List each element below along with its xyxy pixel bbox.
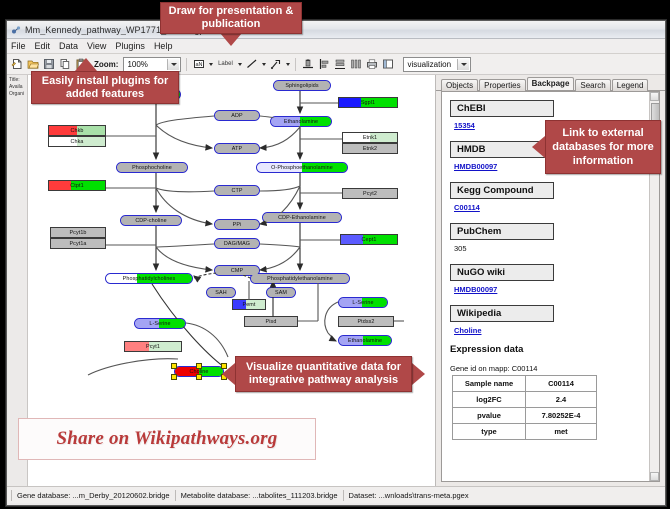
callout-install-plugins: Easily install plugins for added feature… bbox=[31, 71, 179, 104]
metabolite-label: SAM bbox=[275, 290, 287, 296]
db-header-pubchem: PubChem bbox=[450, 223, 554, 240]
metabolite-node-l-serine[interactable]: L-Serine bbox=[134, 318, 186, 329]
cell-key: pvalue bbox=[453, 408, 526, 424]
align-left-icon[interactable] bbox=[317, 58, 330, 71]
zoom-combo[interactable]: 100% bbox=[123, 57, 181, 72]
gene-label: Pcyt1b bbox=[69, 230, 86, 236]
menu-help[interactable]: Help bbox=[154, 41, 173, 51]
metabolite-label: DAG/MAG bbox=[224, 241, 250, 247]
screenshot-root: Mm_Kennedy_pathway_WP1771_45176.gpml Fil… bbox=[0, 0, 670, 509]
selection-handle[interactable] bbox=[196, 363, 202, 369]
gene-label: Sgpl1 bbox=[361, 100, 375, 106]
db-header-wikipedia: Wikipedia bbox=[450, 305, 554, 322]
gene-label: Ptdss2 bbox=[357, 319, 374, 325]
gene-label: Etnk1 bbox=[363, 135, 377, 141]
metabolite-node-adp[interactable]: ADP bbox=[214, 110, 260, 121]
gene-node-pcyt1[interactable]: Pcyt1 bbox=[124, 341, 182, 352]
datanode-dropdown-icon[interactable] bbox=[209, 63, 213, 66]
metabolite-node-sphingolipids[interactable]: Sphingolipids bbox=[273, 80, 331, 91]
distribute-icon[interactable] bbox=[349, 58, 362, 71]
callout-databases-arrow-icon bbox=[532, 136, 545, 158]
menu-data[interactable]: Data bbox=[59, 41, 78, 51]
gene-node-chkb[interactable]: Chkb bbox=[48, 125, 106, 136]
zoom-label: Zoom: bbox=[94, 60, 118, 69]
tab-search[interactable]: Search bbox=[575, 79, 610, 91]
metabolite-node-sam[interactable]: SAM bbox=[266, 287, 296, 298]
metabolite-node-ctp[interactable]: CTP bbox=[214, 185, 260, 196]
cell-value: 7.80252E-4 bbox=[526, 408, 597, 424]
expression-table: Sample name C00114 log2FC 2.4 pvalue 7.8… bbox=[452, 375, 597, 440]
label-dropdown-icon[interactable] bbox=[238, 63, 242, 66]
metabolite-node-ethanolamine[interactable]: Ethanolamine bbox=[338, 335, 392, 346]
callout-share-wikipathways: Share on Wikipathways.org bbox=[18, 418, 316, 460]
gene-id-line: Gene id on mapp: C00114 bbox=[450, 364, 651, 373]
menubar: File Edit Data View Plugins Help bbox=[7, 39, 665, 54]
db-header-chebi: ChEBI bbox=[450, 100, 554, 117]
metabolite-label: Phosphatidylethanolamine bbox=[267, 276, 333, 282]
gene-label: Cept1 bbox=[362, 237, 377, 243]
metabolite-node-dag-mag[interactable]: DAG/MAG bbox=[214, 238, 260, 249]
status-dataset: Dataset: ...wnloads\trans-meta.pgex bbox=[343, 490, 474, 501]
gene-node-chka[interactable]: Chka bbox=[48, 136, 106, 147]
table-row: type met bbox=[453, 424, 597, 440]
selection-handle[interactable] bbox=[171, 363, 177, 369]
metabolite-node-sah[interactable]: SAH bbox=[206, 287, 236, 298]
callout-external-databases: Link to external databases for more info… bbox=[545, 120, 661, 174]
visualization-value: visualization bbox=[407, 60, 451, 69]
metabolite-node-atp[interactable]: ATP bbox=[214, 143, 260, 154]
callout-visualize-quantitative: Visualize quantitative data for integrat… bbox=[235, 356, 412, 392]
db-link-wikipedia[interactable]: Choline bbox=[454, 326, 651, 335]
toolbar-separator bbox=[186, 58, 187, 71]
menu-plugins[interactable]: Plugins bbox=[115, 41, 145, 51]
table-row: Sample name C00114 bbox=[453, 376, 597, 392]
gene-node-pisd[interactable]: Pisd bbox=[244, 316, 298, 327]
tab-legend[interactable]: Legend bbox=[612, 79, 649, 91]
gene-label: Etnk2 bbox=[363, 146, 377, 152]
metabolite-label: Phosphatidylcholines bbox=[123, 276, 176, 282]
pathvisio-app-icon bbox=[11, 25, 21, 35]
metabolite-node-o-phosphoethanolamine[interactable]: O-Phosphoethanolamine bbox=[256, 162, 348, 173]
cell-key: type bbox=[453, 424, 526, 440]
db-link-kegg[interactable]: C00114 bbox=[454, 203, 651, 212]
db-header-nugowiki: NuGO wiki bbox=[450, 264, 554, 281]
gene-node-ptdss2[interactable]: Ptdss2 bbox=[338, 316, 394, 327]
cell-key: Sample name bbox=[453, 376, 526, 392]
db-value-pubchem: 305 bbox=[454, 244, 651, 253]
share-text: Share on Wikipathways.org bbox=[57, 428, 278, 450]
metabolite-label: Ethanolamine bbox=[348, 338, 382, 344]
table-row: log2FC 2.4 bbox=[453, 392, 597, 408]
node-fill-left bbox=[125, 342, 149, 351]
node-fill-left bbox=[49, 181, 71, 190]
copy-icon[interactable] bbox=[58, 58, 71, 71]
gene-label: Pemt bbox=[243, 302, 256, 308]
metabolite-node-l-serine[interactable]: L-Serine bbox=[338, 297, 388, 308]
metabolite-node-cmp[interactable]: CMP bbox=[214, 265, 260, 276]
node-fill-left bbox=[339, 98, 361, 107]
cell-value: met bbox=[526, 424, 597, 440]
tab-backpage[interactable]: Backpage bbox=[527, 77, 575, 90]
status-metabolite-database: Metabolite database: ...tabolites_111203… bbox=[175, 490, 343, 501]
cell-value: C00114 bbox=[526, 376, 597, 392]
window-titlebar: Mm_Kennedy_pathway_WP1771_45176.gpml bbox=[7, 21, 665, 39]
cell-key: log2FC bbox=[453, 392, 526, 408]
selection-handle[interactable] bbox=[171, 374, 177, 380]
gene-node-sgpl1[interactable]: Sgpl1 bbox=[338, 97, 398, 108]
gene-label: Ctpt1 bbox=[70, 183, 83, 189]
gene-node-pemt[interactable]: Pemt bbox=[232, 299, 266, 310]
gene-label: Chka bbox=[71, 139, 84, 145]
tab-objects[interactable]: Objects bbox=[441, 79, 478, 91]
metabolite-node-phosphatidylcholines[interactable]: Phosphatidylcholines bbox=[105, 273, 193, 284]
metabolite-node-cdp-choline[interactable]: CDP-choline bbox=[120, 215, 182, 226]
gene-node-etnk2[interactable]: Etnk2 bbox=[342, 143, 398, 154]
callout-plugins-arrow-icon bbox=[75, 58, 97, 71]
metabolite-label: O-Phosphoethanolamine bbox=[271, 165, 333, 171]
db-header-kegg: Kegg Compound bbox=[450, 182, 554, 199]
gutter-organism: Organi bbox=[7, 91, 27, 98]
visualization-combo[interactable]: visualization bbox=[403, 57, 471, 72]
table-row: pvalue 7.80252E-4 bbox=[453, 408, 597, 424]
metabolite-label: Phosphocholine bbox=[132, 165, 172, 171]
gutter-title: Title: bbox=[7, 77, 27, 84]
gene-label: Pcyt1 bbox=[146, 344, 160, 350]
new-file-icon[interactable] bbox=[10, 58, 23, 71]
toolbar-separator-2 bbox=[295, 58, 296, 71]
gene-label: Pcyt1a bbox=[69, 241, 86, 247]
metabolite-node-phosphocholine[interactable]: Phosphocholine bbox=[116, 162, 188, 173]
open-file-icon[interactable] bbox=[26, 58, 39, 71]
gene-node-etnk1[interactable]: Etnk1 bbox=[342, 132, 398, 143]
gene-node-cept1[interactable]: Cept1 bbox=[340, 234, 398, 245]
stack-icon[interactable] bbox=[333, 58, 346, 71]
metabolite-node-ethanolamine[interactable]: Ethanolamine bbox=[270, 116, 332, 127]
callout-draw-for-publication: Draw for presentation & publication bbox=[160, 2, 302, 34]
selection-handle[interactable] bbox=[196, 374, 202, 380]
receptor-dropdown-icon[interactable] bbox=[286, 63, 290, 66]
gene-node-pcyt1b[interactable]: Pcyt1b bbox=[50, 227, 106, 238]
metabolite-label: L-Serine bbox=[352, 300, 373, 306]
label-icon[interactable]: Label bbox=[216, 58, 234, 71]
metabolite-label: CMP bbox=[231, 268, 243, 274]
metabolite-node-ppi[interactable]: PPi bbox=[214, 219, 260, 230]
menu-edit[interactable]: Edit bbox=[35, 41, 51, 51]
gene-label: Pcyt2 bbox=[363, 191, 377, 197]
layout-icon[interactable] bbox=[381, 58, 394, 71]
receptor-icon[interactable] bbox=[269, 58, 282, 71]
chevron-down-icon[interactable] bbox=[167, 59, 179, 70]
datanode-icon[interactable]: aN bbox=[192, 58, 205, 71]
svg-text:aN: aN bbox=[195, 62, 202, 68]
metabolite-label: Ethanolamine bbox=[284, 119, 318, 125]
label-icon-text: Label bbox=[218, 61, 233, 67]
gene-node-ctpt1[interactable]: Ctpt1 bbox=[48, 180, 106, 191]
gene-label: Chkb bbox=[71, 128, 84, 134]
gene-node-pcyt1a[interactable]: Pcyt1a bbox=[50, 238, 106, 249]
print-icon[interactable] bbox=[365, 58, 378, 71]
metabolite-label: CTP bbox=[231, 188, 242, 194]
side-panel-tabs: Objects Properties Backpage Search Legen… bbox=[436, 75, 665, 91]
node-fill-left bbox=[341, 235, 363, 244]
callout-visualize-left-arrow-icon bbox=[222, 363, 235, 385]
zoom-value: 100% bbox=[127, 60, 147, 69]
callout-draw-arrow-icon bbox=[220, 33, 242, 46]
line-icon[interactable] bbox=[245, 58, 258, 71]
status-gene-database: Gene database: ...m_Derby_20120602.bridg… bbox=[11, 490, 175, 501]
metabolite-label: Sphingolipids bbox=[285, 83, 318, 89]
metabolite-label: CDP-Ethanolamine bbox=[278, 215, 326, 221]
gutter-availab: Availa bbox=[7, 84, 27, 91]
statusbar: Gene database: ...m_Derby_20120602.bridg… bbox=[7, 486, 665, 503]
gene-node-pcyt2[interactable]: Pcyt2 bbox=[342, 188, 398, 199]
cell-value: 2.4 bbox=[526, 392, 597, 408]
metabolite-label: CDP-choline bbox=[135, 218, 166, 224]
tab-properties[interactable]: Properties bbox=[479, 79, 525, 91]
callout-visualize-right-arrow-icon bbox=[412, 363, 425, 385]
metabolite-label: PPi bbox=[233, 222, 242, 228]
metabolite-label: ADP bbox=[231, 113, 242, 119]
menu-view[interactable]: View bbox=[87, 41, 106, 51]
expression-data-heading: Expression data bbox=[450, 344, 651, 355]
line-dropdown-icon[interactable] bbox=[262, 63, 266, 66]
metabolite-node-cdp-ethanolamine[interactable]: CDP-Ethanolamine bbox=[262, 212, 342, 223]
scroll-down-icon[interactable] bbox=[650, 472, 659, 481]
db-link-nugowiki[interactable]: HMDB00097 bbox=[454, 285, 651, 294]
metabolite-label: SAH bbox=[215, 290, 226, 296]
align-top-icon[interactable] bbox=[301, 58, 314, 71]
save-file-icon[interactable] bbox=[42, 58, 55, 71]
metabolite-label: ATP bbox=[232, 146, 242, 152]
gene-label: Pisd bbox=[266, 319, 277, 325]
visualization-chevron-down-icon[interactable] bbox=[457, 59, 469, 70]
metabolite-label: L-Serine bbox=[149, 321, 170, 327]
menu-file[interactable]: File bbox=[11, 41, 26, 51]
metabolite-node-phosphatidylethanolamine[interactable]: Phosphatidylethanolamine bbox=[250, 273, 350, 284]
scroll-up-icon[interactable] bbox=[650, 92, 659, 101]
